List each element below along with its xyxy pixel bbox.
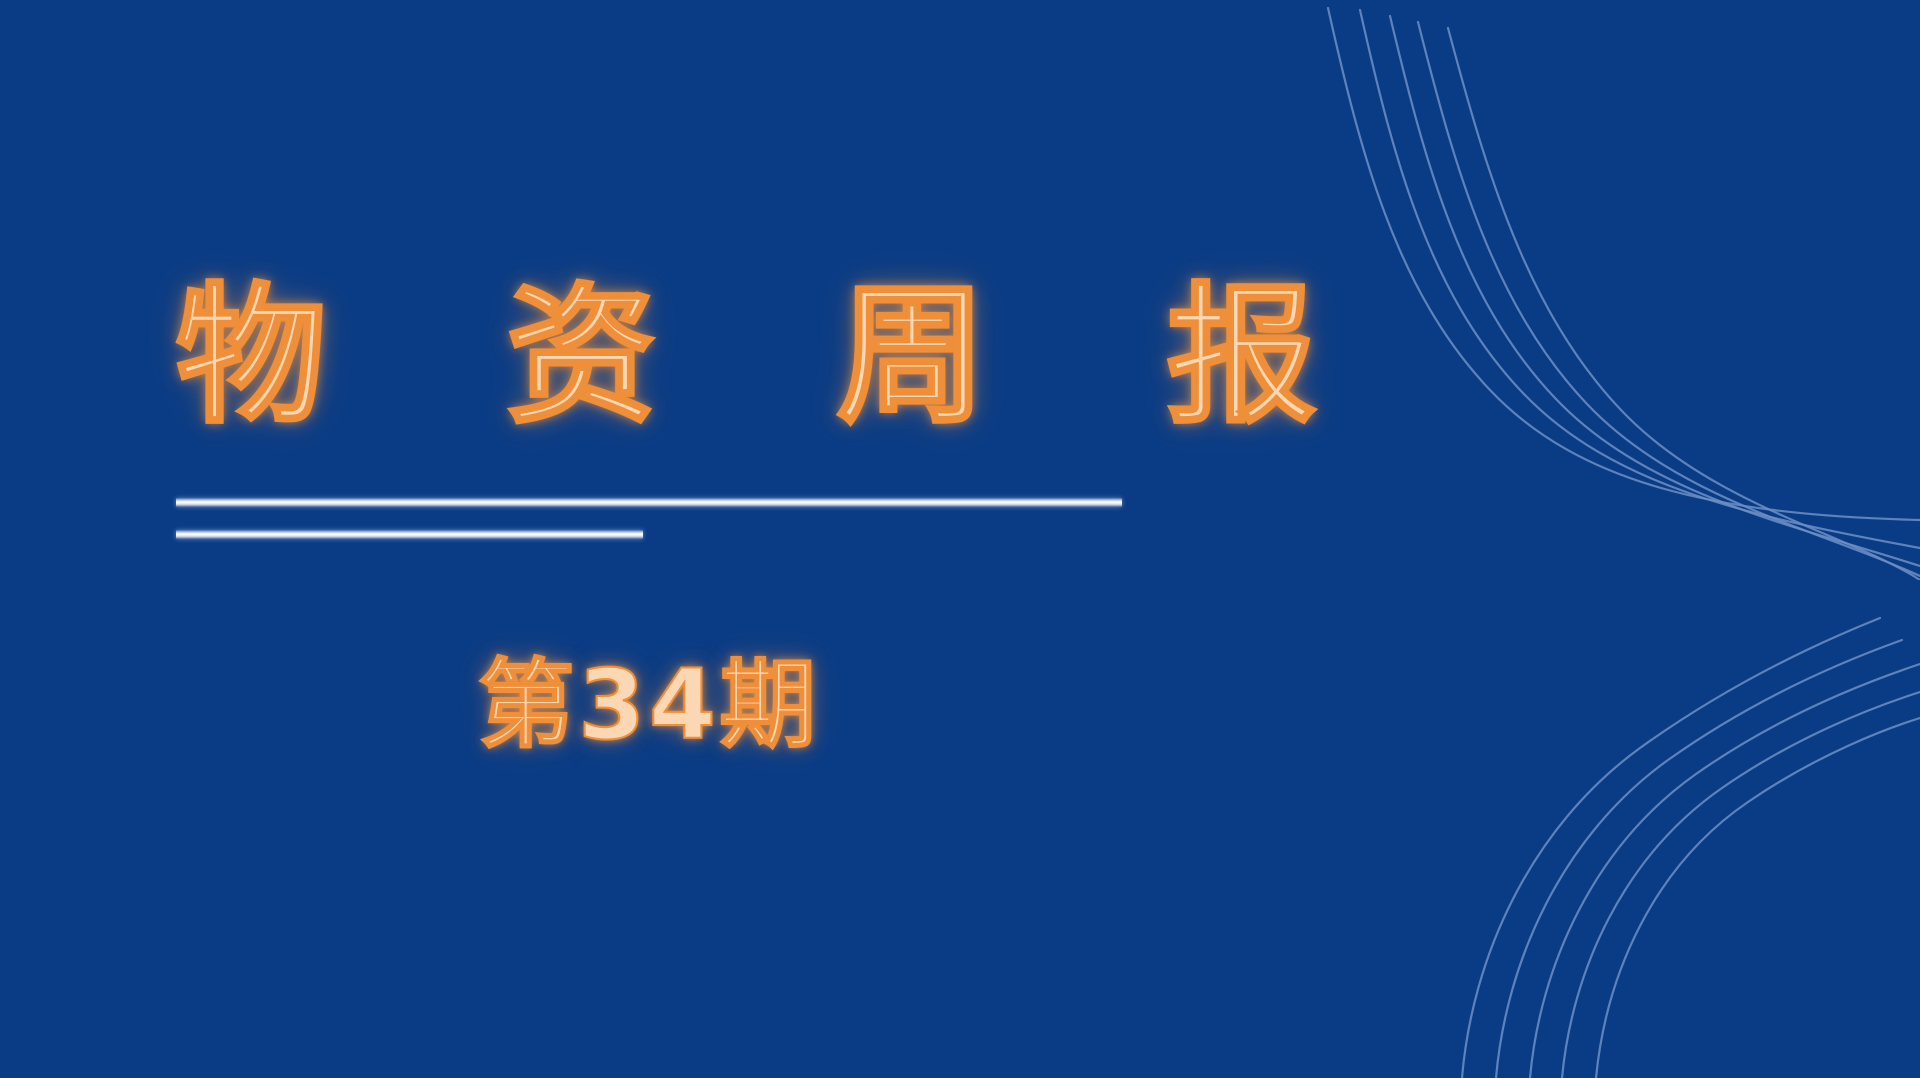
page-title: 物 资 周 报 [176,282,1176,432]
flowing-curves-bottom-right-icon [1240,578,1920,1078]
title-block: 物 资 周 报 [176,282,1176,432]
flowing-curves-top-right-icon [1300,0,1920,580]
divider-line-short [176,530,643,539]
divider-line-long [176,498,1122,507]
issue-subtitle: 第34期 [176,648,1122,763]
title-slide: 物 资 周 报 第34期 [0,0,1920,1078]
divider-group [176,498,1176,539]
